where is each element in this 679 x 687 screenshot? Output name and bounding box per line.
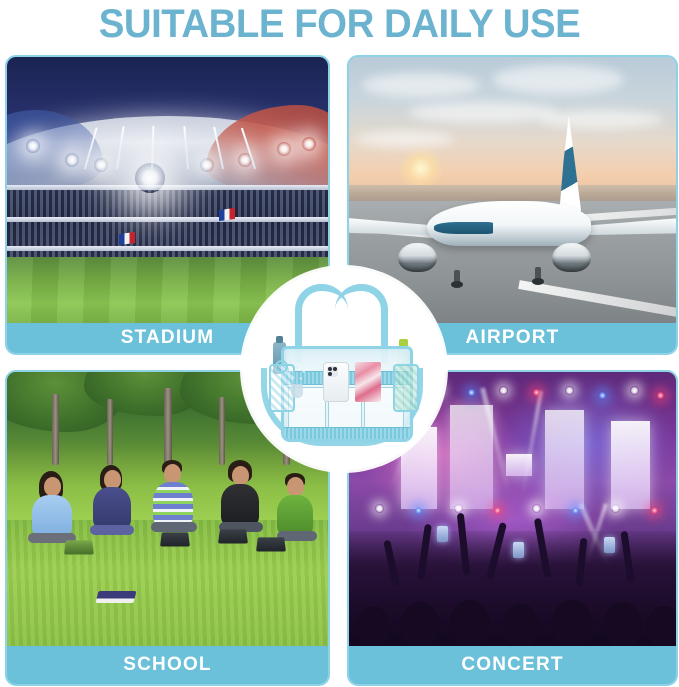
student-torso xyxy=(277,495,313,535)
stage-light xyxy=(454,504,463,513)
stage-light xyxy=(598,391,607,400)
stage-screen-panel xyxy=(545,410,584,509)
stadium-floodlight xyxy=(277,142,291,156)
panel-label-text: CONCERT xyxy=(461,654,563,676)
panel-label-text: SCHOOL xyxy=(123,654,211,676)
tree-trunk xyxy=(219,397,225,466)
audience-head xyxy=(552,600,592,646)
audience-head xyxy=(647,606,676,646)
panel-label-text: STADIUM xyxy=(121,327,215,349)
infographic-canvas: SUITABLE FOR DAILY USE xyxy=(0,0,679,687)
stadium-tier-divider xyxy=(7,217,328,222)
student-head xyxy=(287,477,304,496)
tree-trunk xyxy=(107,399,113,465)
airport-cloud xyxy=(362,73,480,97)
student-figure xyxy=(151,460,222,586)
tree-trunk xyxy=(164,388,172,465)
stadium-tier-divider xyxy=(7,246,328,251)
panel-label-text: AIRPORT xyxy=(466,327,560,349)
student-legs xyxy=(90,525,134,535)
stage-light xyxy=(375,504,384,513)
bag-strap-clip xyxy=(275,360,288,373)
student-torso xyxy=(32,495,72,537)
student-figure xyxy=(277,473,328,588)
audience-head xyxy=(450,600,490,646)
stadium-floodlight xyxy=(200,158,214,172)
stage-light xyxy=(532,504,541,513)
stage-light xyxy=(630,386,639,395)
laptop xyxy=(64,540,94,554)
airplane-engine-right xyxy=(552,243,591,272)
audience-head xyxy=(356,606,390,646)
audience-head xyxy=(604,602,642,646)
stage-screen-panel xyxy=(611,421,650,509)
airplane-nose-gear xyxy=(454,270,460,283)
notebook xyxy=(95,591,136,603)
tree-trunk xyxy=(52,394,59,465)
stadium-flag xyxy=(119,231,135,244)
airport-cloud xyxy=(539,110,663,129)
student-legs xyxy=(151,522,197,532)
laptop xyxy=(160,532,190,546)
audience-phone xyxy=(604,537,615,553)
stage-light xyxy=(611,504,620,513)
stadium-tier-divider xyxy=(7,185,328,190)
pink-folded-clothes xyxy=(355,362,381,402)
stadium-floodlight xyxy=(94,158,108,172)
audience-phone xyxy=(437,526,448,542)
audience-phone xyxy=(513,542,524,558)
laptop xyxy=(218,530,248,544)
student-head xyxy=(44,477,61,496)
stadium-floodlight xyxy=(238,153,252,167)
airplane-cockpit-window-band xyxy=(434,222,493,234)
page-title: SUITABLE FOR DAILY USE xyxy=(14,2,666,46)
student-torso xyxy=(153,482,193,526)
phone-camera-module xyxy=(327,366,338,377)
airplane-main-gear xyxy=(535,267,541,280)
stage-light xyxy=(565,386,574,395)
airport-cloud xyxy=(493,65,624,94)
clear-tote-bag-image xyxy=(243,268,445,470)
student-torso xyxy=(221,484,259,526)
audience-head xyxy=(401,602,439,646)
stadium-flag xyxy=(219,207,235,220)
stadium-floodlight xyxy=(65,153,79,167)
stage-screen-panel xyxy=(450,405,493,509)
student-head xyxy=(164,464,181,483)
product-highlight-circle[interactable] xyxy=(243,268,445,470)
audience-head xyxy=(503,604,539,646)
bag-bottom-trim xyxy=(284,427,410,439)
panel-label-concert: CONCERT xyxy=(349,646,676,684)
panel-label-school: SCHOOL xyxy=(7,646,328,684)
bag-side-mesh-pocket-right xyxy=(393,364,419,412)
student-torso xyxy=(93,487,131,529)
laptop xyxy=(256,538,286,552)
white-smartphone xyxy=(323,362,349,402)
